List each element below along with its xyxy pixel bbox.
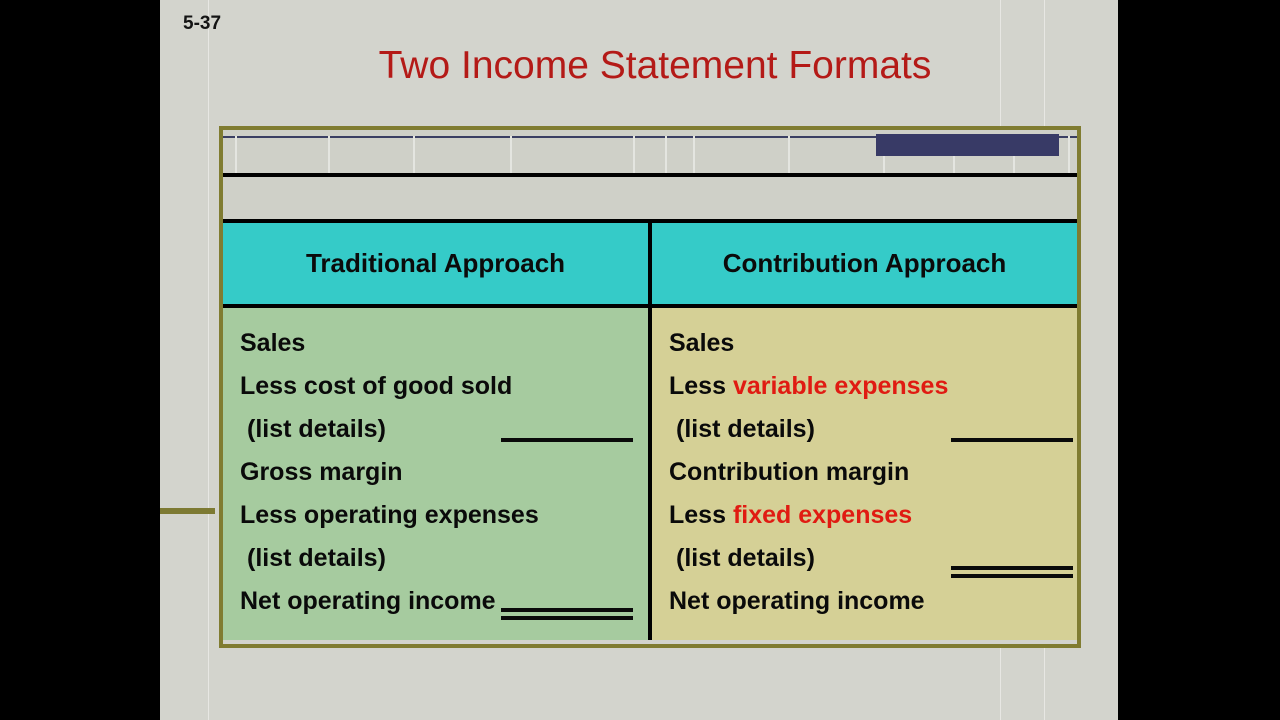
statement-line: Gross margin <box>223 451 648 494</box>
table-column-traditional: Traditional Approach Sales Less cost of … <box>223 223 652 640</box>
left-band-footer-rule <box>160 508 215 514</box>
ruler-tick <box>413 136 415 173</box>
column-body-contribution: Sales Less variable expenses (list detai… <box>652 308 1077 640</box>
ruler-tick <box>328 136 330 173</box>
statement-line: (list details) <box>223 408 648 451</box>
ruler-tick <box>788 136 790 173</box>
statement-line: (list details) <box>223 537 648 580</box>
table-top-spacer-row <box>223 177 1077 223</box>
statement-line: (list details) <box>652 408 1077 451</box>
statement-line: Contribution margin <box>652 451 1077 494</box>
statement-line: Net operating income <box>652 580 1077 623</box>
page-title: Two Income Statement Formats <box>205 44 1105 88</box>
ruler-tick <box>633 136 635 173</box>
statement-line-prefix: Less <box>669 501 733 529</box>
ruler-tick <box>1068 136 1070 173</box>
canvas-seam <box>208 0 209 720</box>
ruler-strip[interactable] <box>223 130 1077 177</box>
ruler-tick <box>693 136 695 173</box>
table-column-contribution: Contribution Approach Sales Less variabl… <box>652 223 1077 640</box>
column-header-traditional: Traditional Approach <box>223 223 648 308</box>
presentation-screen: 5-37 Two Income Statement Formats Tradit… <box>0 0 1280 720</box>
statement-line: Less cost of good sold <box>223 365 648 408</box>
statement-line-highlight: variable expenses <box>733 372 948 400</box>
comparison-table: Traditional Approach Sales Less cost of … <box>223 223 1077 640</box>
amount-rule-double <box>951 566 1073 578</box>
statement-line-highlight: fixed expenses <box>733 501 912 529</box>
ruler-selection-block[interactable] <box>876 134 1059 156</box>
ruler-tick <box>665 136 667 173</box>
amount-rule-double <box>501 608 633 620</box>
embedded-table-object[interactable]: Traditional Approach Sales Less cost of … <box>219 126 1081 648</box>
statement-line: Sales <box>652 322 1077 365</box>
statement-line: Less operating expenses <box>223 494 648 537</box>
ruler-tick <box>510 136 512 173</box>
amount-rule-single <box>951 438 1073 442</box>
statement-line: Less fixed expenses <box>652 494 1077 537</box>
ruler-tick <box>235 136 237 173</box>
amount-rule-single <box>501 438 633 442</box>
statement-line: Sales <box>223 322 648 365</box>
statement-line-prefix: Less <box>669 372 733 400</box>
statement-line: Less variable expenses <box>652 365 1077 408</box>
column-header-contribution: Contribution Approach <box>652 223 1077 308</box>
slide-number: 5-37 <box>183 13 221 35</box>
left-grey-band <box>160 0 203 513</box>
column-body-traditional: Sales Less cost of good sold (list detai… <box>223 308 648 640</box>
